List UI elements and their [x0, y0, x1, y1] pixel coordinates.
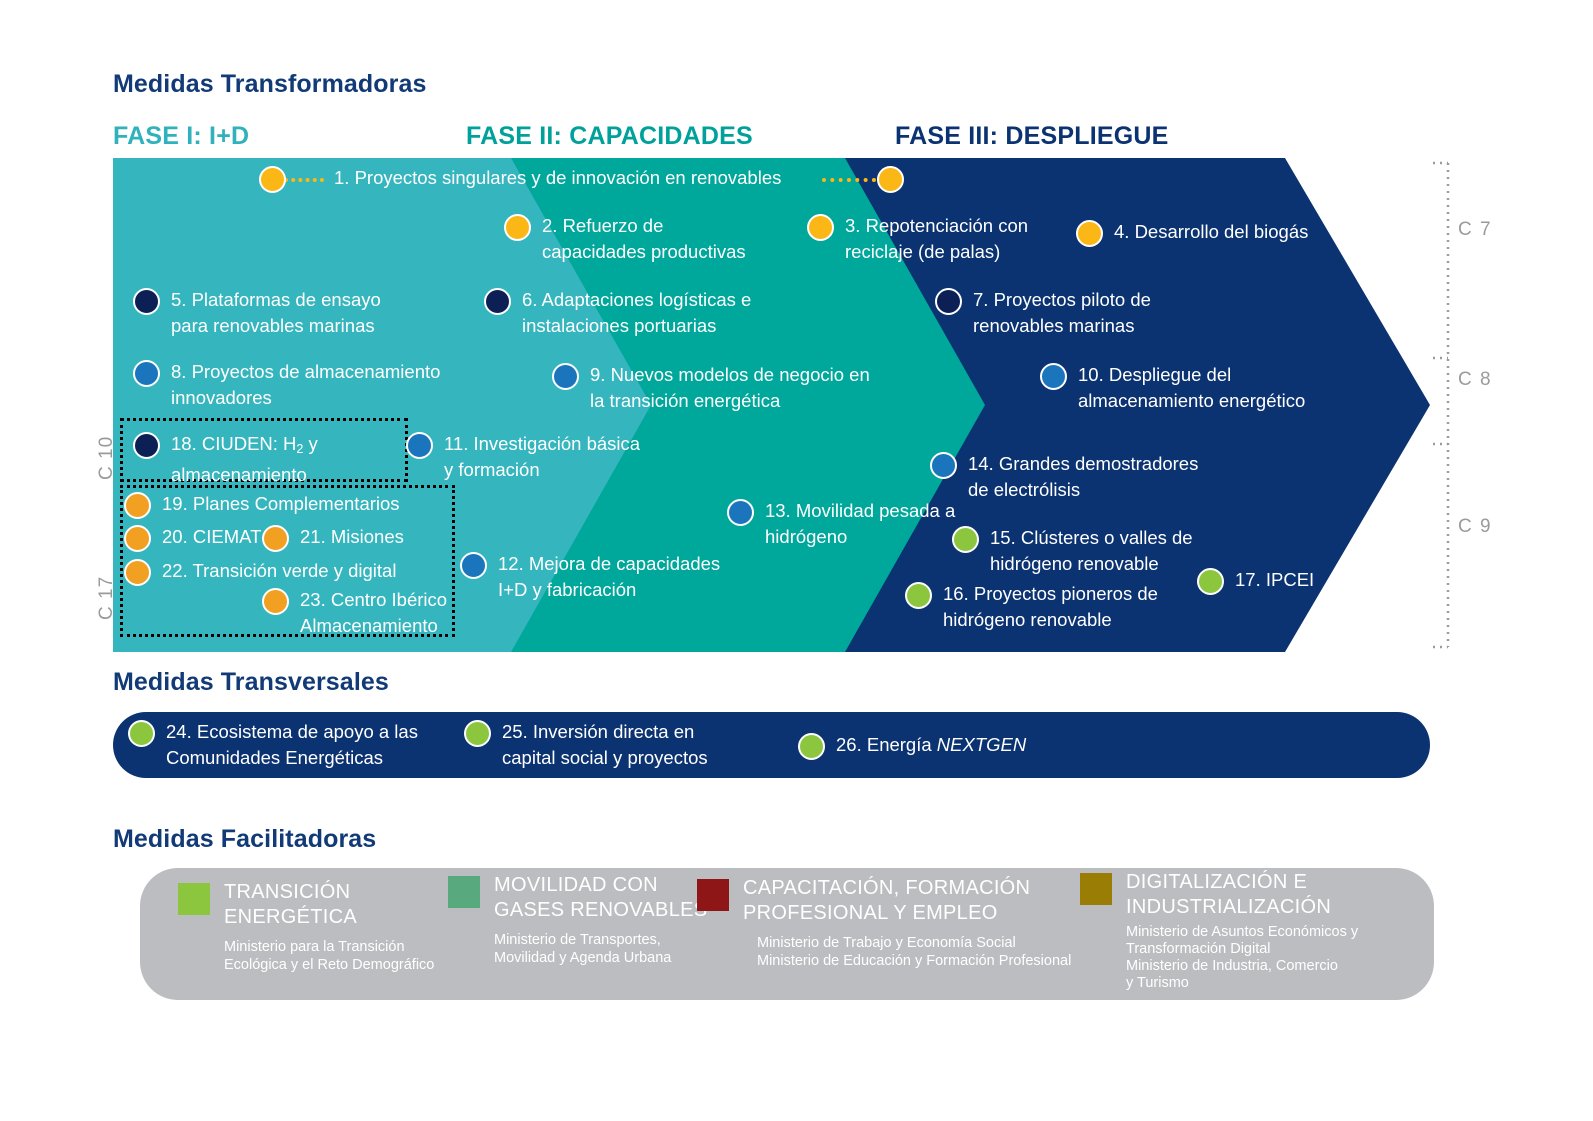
legend-subtitle: Ministerio de Transportes, Movilidad y A…: [494, 931, 707, 967]
measure-dot-orange: [262, 588, 289, 615]
component-label-c7: C 7: [1458, 219, 1492, 241]
measure-dot-blue: [133, 360, 160, 387]
measure-dot-orange: [124, 559, 151, 586]
measure-dot-orange: [124, 525, 151, 552]
measure-label-15: 15. Clústeres o valles de hidrógeno reno…: [990, 525, 1193, 577]
legend-subtitle: Ministerio de Trabajo y Economía Social …: [757, 934, 1071, 970]
measure-label-10: 10. Despliegue del almacenamiento energé…: [1078, 362, 1305, 414]
measure-label-8: 8. Proyectos de almacenamiento innovador…: [171, 359, 440, 411]
legend-subtitle: Ministerio para la Transición Ecológica …: [224, 938, 434, 974]
measure-dot-green: [798, 733, 825, 760]
component-label-c10: C 10: [96, 436, 118, 480]
measure-item-12[interactable]: 12. Mejora de capacidades I+D y fabricac…: [460, 551, 720, 603]
measure-dot-orange: [262, 525, 289, 552]
measure-dot-blue: [460, 552, 487, 579]
measure-label-19: 19. Planes Complementarios: [162, 491, 400, 517]
page-title-transversales: Medidas Transversales: [113, 668, 389, 697]
legend-swatch-green: [178, 883, 210, 915]
transversal-label-26: 26. Energía NEXTGEN: [836, 732, 1026, 758]
measure-label-12: 12. Mejora de capacidades I+D y fabricac…: [498, 551, 720, 603]
phase-title-fase-2: FASE II: CAPACIDADES: [466, 122, 753, 151]
component-label-c9: C 9: [1458, 516, 1492, 538]
legend-subtitle: Ministerio de Asuntos Económicos y Trans…: [1126, 924, 1358, 992]
measure-dot-yellow: [1076, 220, 1103, 247]
measure-item-20[interactable]: 20. CIEMAT: [124, 524, 261, 552]
phase-title-fase-3: FASE III: DESPLIEGUE: [895, 122, 1169, 151]
page-title-facilitadoras: Medidas Facilitadoras: [113, 825, 376, 854]
measure-item-16[interactable]: 16. Proyectos pioneros de hidrógeno reno…: [905, 581, 1158, 633]
measure-item-10[interactable]: 10. Despliegue del almacenamiento energé…: [1040, 362, 1305, 414]
legend-swatch-gold: [1080, 873, 1112, 905]
measure-label-5: 5. Plataformas de ensayo para renovables…: [171, 287, 381, 339]
measure-dot-navy: [935, 288, 962, 315]
measure-label-1: 1. Proyectos singulares y de innovación …: [334, 165, 781, 191]
measure-dot-yellow: [504, 214, 531, 241]
measure-item-6[interactable]: 6. Adaptaciones logísticas e instalacion…: [484, 287, 751, 339]
measure-dot-blue: [727, 499, 754, 526]
legend-title: TRANSICIÓN ENERGÉTICA: [224, 880, 434, 930]
measure-label-2: 2. Refuerzo de capacidades productivas: [542, 213, 746, 265]
measure-item-9[interactable]: 9. Nuevos modelos de negocio en la trans…: [552, 362, 870, 414]
transversal-label-25: 25. Inversión directa en capital social …: [502, 719, 708, 771]
legend-item-movilidad-gases[interactable]: MOVILIDAD CON GASES RENOVABLES Ministeri…: [448, 873, 718, 967]
measure-dot-yellow: [259, 166, 286, 193]
measure-item-2[interactable]: 2. Refuerzo de capacidades productivas: [504, 213, 746, 265]
measure-dot-green: [1197, 568, 1224, 595]
measure-label-21: 21. Misiones: [300, 524, 404, 550]
measure-item-22[interactable]: 22. Transición verde y digital: [124, 558, 396, 586]
measure-label-16: 16. Proyectos pioneros de hidrógeno reno…: [943, 581, 1158, 633]
transversal-label-24: 24. Ecosistema de apoyo a las Comunidade…: [166, 719, 418, 771]
measure-item-18[interactable]: 18. CIUDEN: H2 yalmacenamiento: [133, 431, 318, 488]
measure-item-3[interactable]: 3. Repotenciación con reciclaje (de pala…: [807, 213, 1028, 265]
measure-item-19[interactable]: 19. Planes Complementarios: [124, 491, 400, 519]
component-label-c8: C 8: [1458, 369, 1492, 391]
legend-swatch-teal-green: [448, 876, 480, 908]
measure-label-3: 3. Repotenciación con reciclaje (de pala…: [845, 213, 1028, 265]
measure-item-1-phase3[interactable]: [877, 165, 904, 193]
measure-label-18: 18. CIUDEN: H2 yalmacenamiento: [171, 431, 318, 488]
legend-title: DIGITALIZACIÓN E INDUSTRIALIZACIÓN: [1126, 870, 1358, 920]
measure-label-6: 6. Adaptaciones logísticas e instalacion…: [522, 287, 751, 339]
measure-item-21[interactable]: 21. Misiones: [262, 524, 404, 552]
measure-item-8[interactable]: 8. Proyectos de almacenamiento innovador…: [133, 359, 440, 411]
measure-item-11[interactable]: 11. Investigación básica y formación: [406, 431, 640, 483]
transversal-item-25[interactable]: 25. Inversión directa en capital social …: [464, 719, 708, 771]
measure-dot-orange: [124, 492, 151, 519]
legend-title: MOVILIDAD CON GASES RENOVABLES: [494, 873, 707, 923]
measure-dot-green: [952, 526, 979, 553]
measure-label-13: 13. Movilidad pesada a hidrógeno: [765, 498, 955, 550]
measure-item-13[interactable]: 13. Movilidad pesada a hidrógeno: [727, 498, 955, 550]
measure-dot-yellow: [877, 166, 904, 193]
measure-dot-blue: [552, 363, 579, 390]
measure-dot-green: [464, 720, 491, 747]
measure-label-14: 14. Grandes demostradores de electrólisi…: [968, 451, 1198, 503]
transversal-item-24[interactable]: 24. Ecosistema de apoyo a las Comunidade…: [128, 719, 418, 771]
measure-dot-navy: [133, 432, 160, 459]
page-title-transformadoras: Medidas Transformadoras: [113, 70, 427, 99]
measure-item-14[interactable]: 14. Grandes demostradores de electrólisi…: [930, 451, 1198, 503]
measure-item-23[interactable]: 23. Centro Ibérico Almacenamiento: [262, 587, 447, 639]
measure-item-15[interactable]: 15. Clústeres o valles de hidrógeno reno…: [952, 525, 1193, 577]
measure-label-7: 7. Proyectos piloto de renovables marina…: [973, 287, 1151, 339]
legend-item-capacitacion[interactable]: CAPACITACIÓN, FORMACIÓN PROFESIONAL Y EM…: [697, 876, 1097, 970]
measure-item-4[interactable]: 4. Desarrollo del biogás: [1076, 219, 1308, 247]
measure-dot-blue: [1040, 363, 1067, 390]
legend-swatch-dark-red: [697, 879, 729, 911]
measure-label-11: 11. Investigación básica y formación: [444, 431, 640, 483]
component-label-c17: C 17: [96, 576, 118, 620]
measure-label-9: 9. Nuevos modelos de negocio en la trans…: [590, 362, 870, 414]
measure-label-4: 4. Desarrollo del biogás: [1114, 219, 1308, 245]
measure-dot-green: [905, 582, 932, 609]
connector-line-right: [822, 178, 876, 182]
measure-label-22: 22. Transición verde y digital: [162, 558, 396, 584]
legend-item-transicion-energetica[interactable]: TRANSICIÓN ENERGÉTICA Ministerio para la…: [178, 880, 438, 974]
measure-dot-green: [128, 720, 155, 747]
legend-item-digitalizacion[interactable]: DIGITALIZACIÓN E INDUSTRIALIZACIÓN Minis…: [1080, 870, 1410, 992]
legend-title: CAPACITACIÓN, FORMACIÓN PROFESIONAL Y EM…: [743, 876, 1071, 926]
measure-dot-blue: [406, 432, 433, 459]
measure-item-17[interactable]: 17. IPCEI: [1197, 567, 1314, 595]
measure-item-1[interactable]: 1. Proyectos singulares y de innovación …: [259, 165, 781, 193]
measure-item-7[interactable]: 7. Proyectos piloto de renovables marina…: [935, 287, 1151, 339]
measure-dot-navy: [133, 288, 160, 315]
measure-label-20: 20. CIEMAT: [162, 524, 261, 550]
measure-dot-yellow: [807, 214, 834, 241]
measure-item-5[interactable]: 5. Plataformas de ensayo para renovables…: [133, 287, 381, 339]
measure-label-23: 23. Centro Ibérico Almacenamiento: [300, 587, 447, 639]
phase-title-fase-1: FASE I: I+D: [113, 122, 249, 151]
measure-dot-navy: [484, 288, 511, 315]
measure-label-17: 17. IPCEI: [1235, 567, 1314, 593]
transversal-item-26[interactable]: 26. Energía NEXTGEN: [798, 732, 1026, 760]
measure-dot-blue: [930, 452, 957, 479]
